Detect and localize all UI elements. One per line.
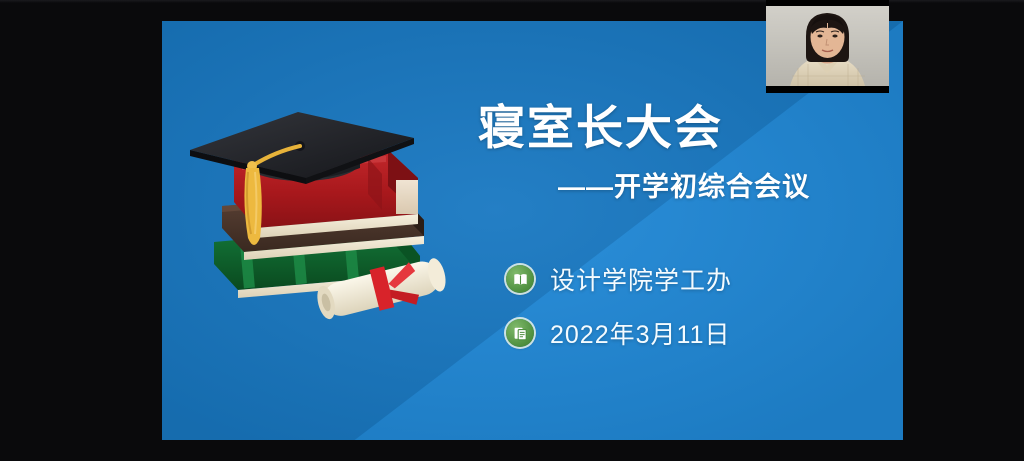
list-item-label: 2022年3月11日 <box>550 315 730 351</box>
webcam-video-frame <box>766 6 889 86</box>
list-item: 设计学院学工办 <box>506 261 732 297</box>
list-item-label: 设计学院学工办 <box>550 261 732 297</box>
graduation-cap-books-icon <box>182 106 450 321</box>
document-icon <box>506 319 534 347</box>
open-book-icon <box>506 265 534 293</box>
list-item: 2022年3月11日 <box>506 315 732 351</box>
slide-info-list: 设计学院学工办 2022年3月11日 <box>506 261 732 351</box>
webcam-video-thumbnail[interactable] <box>766 0 889 93</box>
avatar <box>766 6 889 86</box>
slide-subtitle: ——开学初综合会议 <box>558 165 810 204</box>
slide-title: 寝室长大会 <box>478 103 878 152</box>
meeting-screen-share: 寝室长大会 ——开学初综合会议 设计学院学工办 <box>0 0 1024 461</box>
